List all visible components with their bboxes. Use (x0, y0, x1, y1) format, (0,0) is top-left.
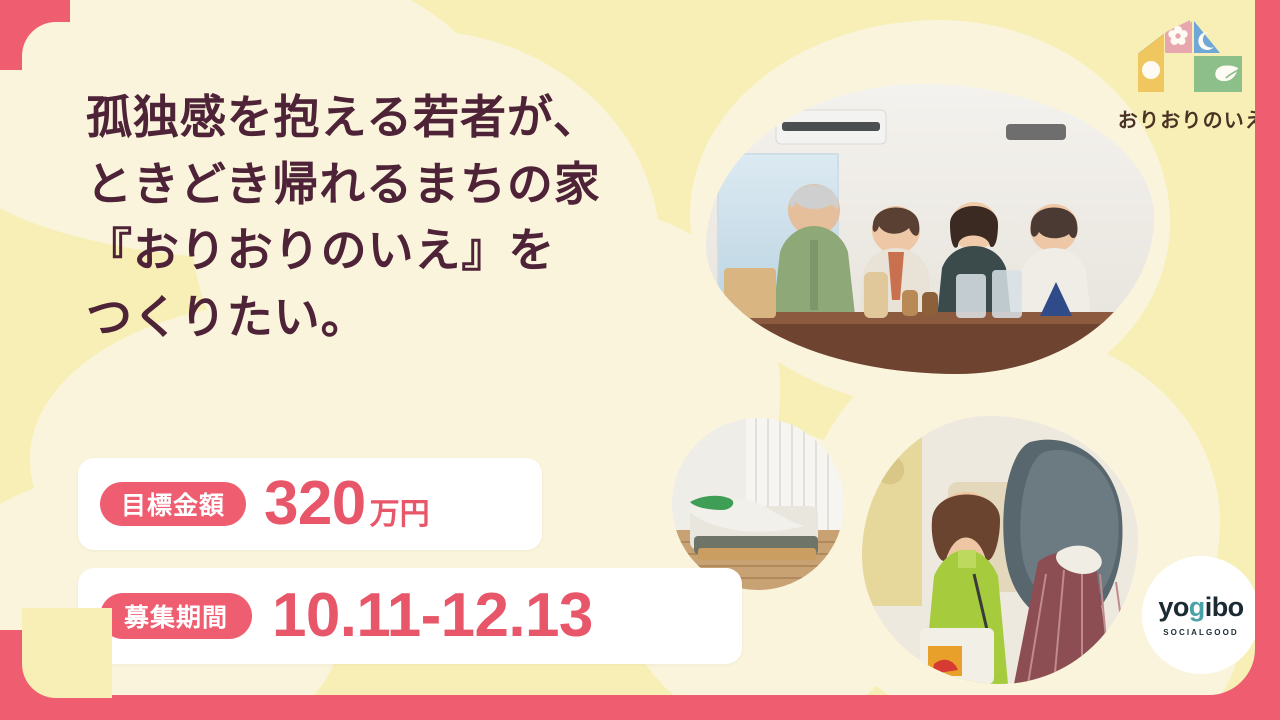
brand-logo: おりおりのいえ (1108, 20, 1255, 138)
corner-bottom-left (0, 630, 90, 720)
yogibo-tagline: SOCIALGOOD (1163, 628, 1238, 637)
corner-top-left (0, 0, 70, 70)
period-card: 募集期間 10.11-12.13 (78, 568, 742, 664)
yogibo-wordmark: yogibo (1158, 594, 1243, 621)
goal-amount: 320 万円 (264, 473, 430, 535)
yogibo-word-a: yo (1158, 594, 1188, 621)
period-label-pill: 募集期間 (100, 593, 252, 639)
house-logo-icon (1136, 20, 1248, 94)
goal-amount-card: 目標金額 320 万円 (78, 458, 542, 550)
yogibo-social-good-badge: yogibo SOCIALGOOD (1142, 556, 1255, 674)
photo-bedroom (672, 418, 844, 590)
goal-label-pill: 目標金額 (100, 482, 246, 526)
yogibo-word-b: ibo (1205, 594, 1244, 621)
photo-group-kitchen (706, 84, 1154, 374)
goal-amount-number: 320 (264, 473, 366, 535)
yogibo-word-g: g (1189, 594, 1205, 621)
cream-panel: 孤独感を抱える若者が、 ときどき帰れるまちの家 『おりおりのいえ』を つくりたい… (0, 0, 1255, 695)
headline: 孤独感を抱える若者が、 ときどき帰れるまちの家 『おりおりのいえ』を つくりたい… (86, 84, 686, 351)
period-range: 10.11-12.13 (272, 585, 593, 647)
brand-logo-wordmark: おりおりのいえ (1108, 104, 1255, 133)
goal-amount-unit: 万円 (370, 500, 430, 530)
poster-canvas: 孤独感を抱える若者が、 ときどき帰れるまちの家 『おりおりのいえ』を つくりたい… (0, 0, 1280, 720)
